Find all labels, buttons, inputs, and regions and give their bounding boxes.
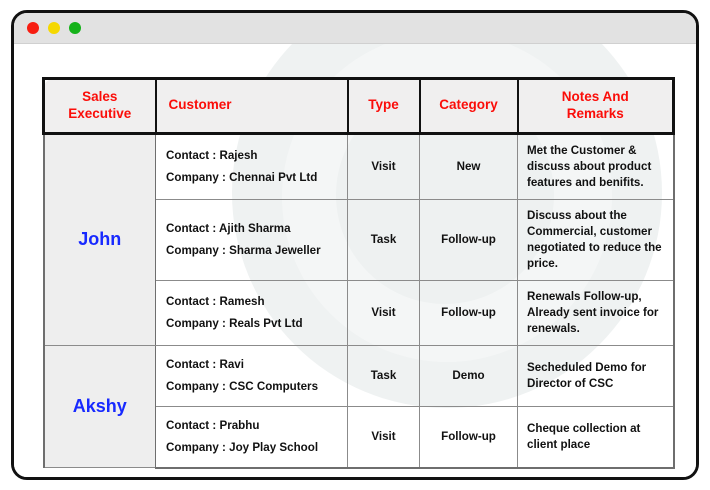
customer-contact: Contact : Rajesh <box>166 145 337 167</box>
cell-type: Visit <box>348 280 420 345</box>
column-header-sales-executive: Sales Executive <box>44 79 156 134</box>
cell-type: Task <box>348 345 420 406</box>
browser-window: Sales Executive Customer Type Category N… <box>11 10 699 480</box>
table-container: Sales Executive Customer Type Category N… <box>42 77 672 469</box>
column-header-category: Category <box>420 79 518 134</box>
window-content: Sales Executive Customer Type Category N… <box>14 44 696 480</box>
cell-notes-and-remarks: Renewals Follow-up, Already sent invoice… <box>518 280 674 345</box>
cell-customer: Contact : RameshCompany : Reals Pvt Ltd <box>156 280 348 345</box>
cell-customer: Contact : RaviCompany : CSC Computers <box>156 345 348 406</box>
customer-company: Company : CSC Computers <box>166 376 337 398</box>
customer-contact: Contact : Ramesh <box>166 291 337 313</box>
cell-customer: Contact : RajeshCompany : Chennai Pvt Lt… <box>156 133 348 199</box>
customer-contact: Contact : Ravi <box>166 354 337 376</box>
column-header-customer: Customer <box>156 79 348 134</box>
minimize-button-icon[interactable] <box>48 22 60 34</box>
cell-sales-executive: John <box>44 133 156 345</box>
customer-company: Company : Chennai Pvt Ltd <box>166 167 337 189</box>
table-row: AkshyContact : RaviCompany : CSC Compute… <box>44 345 674 406</box>
cell-customer: Contact : PrabhuCompany : Joy Play Schoo… <box>156 406 348 468</box>
cell-category: Demo <box>420 345 518 406</box>
window-titlebar <box>14 13 696 44</box>
cell-category: Follow-up <box>420 406 518 468</box>
customer-company: Company : Reals Pvt Ltd <box>166 313 337 335</box>
table-row: JohnContact : RajeshCompany : Chennai Pv… <box>44 133 674 199</box>
cell-notes-and-remarks: Met the Customer & discuss about product… <box>518 133 674 199</box>
cell-customer: Contact : Ajith SharmaCompany : Sharma J… <box>156 199 348 280</box>
app-root: Sales Executive Customer Type Category N… <box>0 0 710 490</box>
table-header: Sales Executive Customer Type Category N… <box>44 79 674 134</box>
maximize-button-icon[interactable] <box>69 22 81 34</box>
cell-category: Follow-up <box>420 280 518 345</box>
cell-notes-and-remarks: Cheque collection at client place <box>518 406 674 468</box>
customer-contact: Contact : Ajith Sharma <box>166 218 337 240</box>
column-header-type: Type <box>348 79 420 134</box>
cell-sales-executive: Akshy <box>44 345 156 468</box>
column-header-sales-executive-line2: Executive <box>68 106 131 121</box>
close-button-icon[interactable] <box>27 22 39 34</box>
cell-type: Visit <box>348 406 420 468</box>
cell-type: Task <box>348 199 420 280</box>
column-header-sales-executive-line1: Sales <box>82 89 117 104</box>
column-header-notes-and-remarks: Notes And Remarks <box>518 79 674 134</box>
cell-notes-and-remarks: Secheduled Demo for Director of CSC <box>518 345 674 406</box>
cell-type: Visit <box>348 133 420 199</box>
customer-company: Company : Joy Play School <box>166 437 337 459</box>
column-header-notes-line1: Notes And <box>562 89 629 104</box>
cell-category: Follow-up <box>420 199 518 280</box>
customer-company: Company : Sharma Jeweller <box>166 240 337 262</box>
cell-category: New <box>420 133 518 199</box>
customer-contact: Contact : Prabhu <box>166 415 337 437</box>
table-header-row: Sales Executive Customer Type Category N… <box>44 79 674 134</box>
sales-activity-table: Sales Executive Customer Type Category N… <box>42 77 675 469</box>
column-header-notes-line2: Remarks <box>567 106 624 121</box>
table-body: JohnContact : RajeshCompany : Chennai Pv… <box>44 133 674 467</box>
cell-notes-and-remarks: Discuss about the Commercial, customer n… <box>518 199 674 280</box>
